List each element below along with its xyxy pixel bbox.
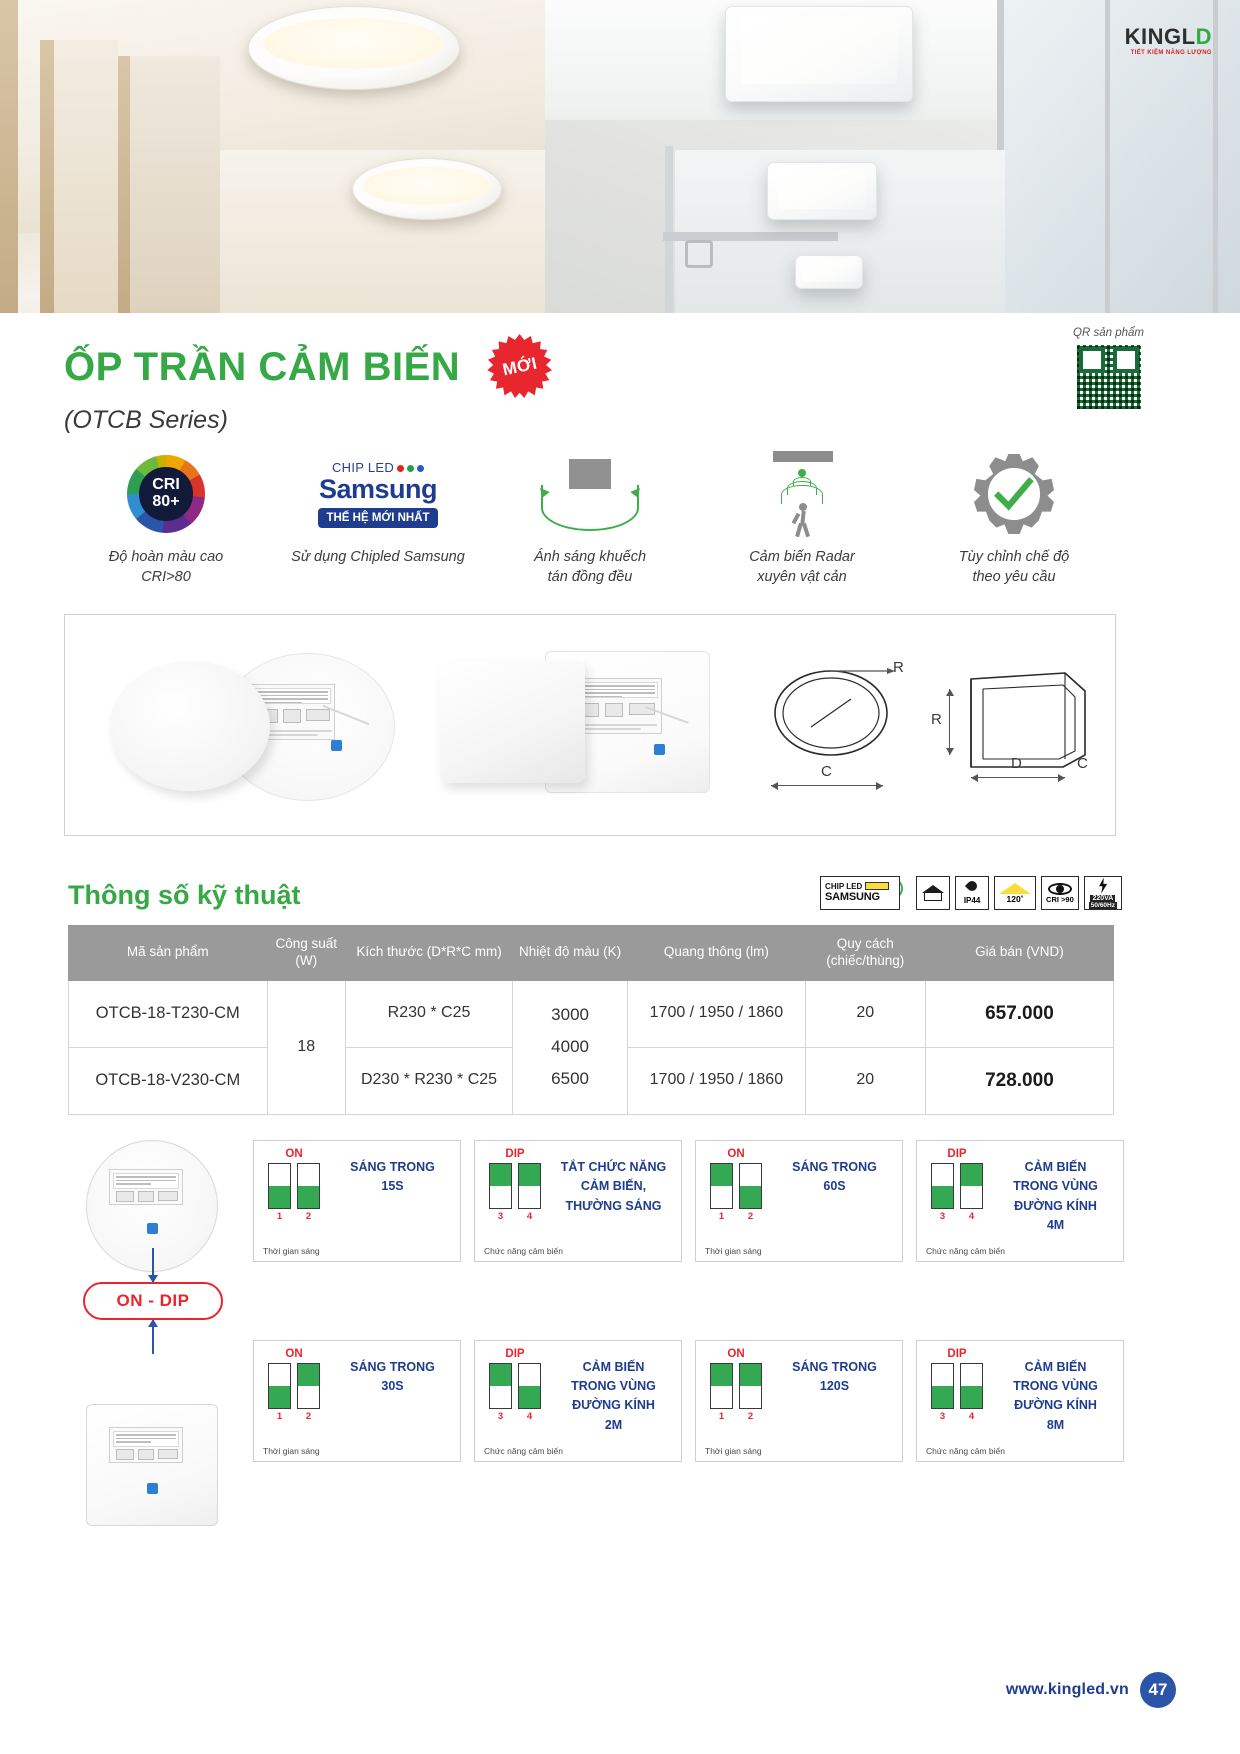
dimension-drawing-square: R D C [935,663,1115,803]
dip-card: DIP34TẮT CHỨC NĂNG CẢM BIẾN, THƯỜNG SÁNG… [474,1140,682,1262]
dip-switch[interactable]: 4 [960,1163,983,1222]
dip-switch-number: 3 [931,1211,954,1222]
dip-card-grid: ON12SÁNG TRONG 15SThời gian sángDIP34TẮT… [253,1140,1124,1526]
voltage-badge: 220VA 50/60Hz [1084,876,1122,910]
th-size: Kích thước (D*R*C mm) [345,926,512,981]
dim-label-c: C [1077,755,1088,772]
cell-price: 728.000 [925,1047,1113,1114]
dip-switch[interactable]: 2 [297,1363,320,1422]
dip-description: CẢM BIẾN TRONG VÙNG ĐƯỜNG KÍNH 2M [555,1348,672,1436]
dim-label-d: D [1011,755,1022,772]
dip-switch-number: 2 [739,1411,762,1422]
dip-function-label: Chức năng cảm biến [926,1244,1114,1256]
dip-switch[interactable]: 1 [268,1163,291,1222]
dip-card: ON12SÁNG TRONG 60SThời gian sáng [695,1140,903,1262]
dip-description: CẢM BIẾN TRONG VÙNG ĐƯỜNG KÍNH 4M [997,1148,1114,1236]
hero-photo-round-lamps [0,0,545,313]
feature-custom-mode: Tùy chỉnh chế độ theo yêu cầu [908,448,1120,587]
qr-code-icon[interactable] [1076,344,1142,410]
samsung-text: SAMSUNG [825,892,880,904]
square-product-thumb [86,1404,218,1526]
spec-section-heading: Thông số kỹ thuật [68,880,301,911]
cri-text: CRI >90 [1046,895,1074,904]
th-lumen: Quang thông (lm) [628,926,806,981]
new-badge: MỚI [487,334,553,400]
cell-lumen: 1700 / 1950 / 1860 [628,1047,806,1114]
on-dip-pill: ON - DIP [83,1282,223,1320]
qr-label: QR sản phẩm [1073,327,1144,339]
dip-function-label: Thời gian sáng [705,1244,893,1256]
dip-switch-number: 1 [710,1211,733,1222]
cell-size: D230 * R230 * C25 [345,1047,512,1114]
dip-switch-number: 2 [297,1211,320,1222]
table-row: OTCB-18-T230-CM 18 R230 * C25 3000 4000 … [69,980,1114,1047]
radar-sensor-icon [696,448,908,540]
dip-function-label: Chức năng cảm biến [484,1244,672,1256]
dim-label-r: R [893,659,904,676]
th-product-code: Mã sản phẩm [69,926,268,981]
dip-switch[interactable]: 3 [489,1363,512,1422]
dip-switch[interactable]: 3 [489,1163,512,1222]
dip-switch-number: 1 [710,1411,733,1422]
brand-logo: KINGLD TIẾT KIỆM NĂNG LƯỢNG [1125,26,1212,56]
cell-product-code: OTCB-18-T230-CM [69,980,268,1047]
voltage-text: 220VA [1090,895,1115,902]
dip-switch[interactable]: 1 [710,1163,733,1222]
gear-check-icon [908,448,1120,540]
dip-card: ON12SÁNG TRONG 120SThời gian sáng [695,1340,903,1462]
website-url[interactable]: www.kingled.vn [1006,1681,1129,1699]
arrow-up-icon [152,1320,154,1354]
dip-description: TẮT CHỨC NĂNG CẢM BIẾN, THƯỜNG SÁNG [555,1148,672,1216]
th-power: Công suất (W) [267,926,345,981]
cell-packing: 20 [805,980,925,1047]
samsung-chipled-icon: CHIP LED Samsung THẾ HỆ MỚI NHẤT [272,448,484,540]
dip-card: ON12SÁNG TRONG 15SThời gian sáng [253,1140,461,1262]
specifications-table: Mã sản phẩm Công suất (W) Kích thước (D*… [68,925,1114,1115]
new-badge-label: MỚI [480,328,558,406]
cri-wheel-icon: CRI 80+ [60,448,272,540]
dip-mode-label: ON [705,1148,767,1160]
page-footer: www.kingled.vn 47 [1006,1672,1176,1708]
dip-description: SÁNG TRONG 60S [776,1148,893,1197]
brand-tagline: TIẾT KIỆM NĂNG LƯỢNG [1125,50,1212,56]
dip-switch-number: 1 [268,1211,291,1222]
dip-description: SÁNG TRONG 120S [776,1348,893,1397]
product-dimension-box: R C R D C [64,614,1116,836]
dip-switch-number: 1 [268,1411,291,1422]
cell-price: 657.000 [925,980,1113,1047]
dip-function-label: Thời gian sáng [263,1244,451,1256]
chipled-text: CHIP LED [332,460,394,475]
dimension-drawing-round: R C [765,667,925,797]
beam-angle-text: 120˚ [1007,894,1024,904]
feature-radar: Cảm biến Radar xuyên vật cản [696,448,908,587]
cri-text-bottom: 80+ [152,494,179,511]
hero-image-row: KINGLD TIẾT KIỆM NĂNG LƯỢNG [0,0,1240,313]
dip-mode-label: ON [263,1148,325,1160]
dip-switch[interactable]: 2 [739,1163,762,1222]
dip-description: SÁNG TRONG 30S [334,1348,451,1397]
product-round-exploded [110,653,410,793]
th-color-temp: Nhiệt độ màu (K) [513,926,628,981]
frequency-text: 50/60Hz [1089,902,1117,909]
dip-switch-number: 2 [739,1211,762,1222]
on-dip-label: ON - DIP [117,1291,190,1311]
dip-switch-number: 3 [931,1411,954,1422]
dip-card: DIP34CẢM BIẾN TRONG VÙNG ĐƯỜNG KÍNH 4MCh… [916,1140,1124,1262]
brand-leaf: D [1196,24,1212,49]
dip-switch-number: 4 [518,1211,541,1222]
feature-row: CRI 80+ Độ hoàn màu cao CRI>80 CHIP LED … [60,448,1120,587]
chip-led-samsung-badge: CHIP LED SAMSUNG [820,876,900,910]
dim-label-c: C [821,763,832,780]
dip-switch-section: ON - DIP ON12SÁNG TRONG 15SThời gian sán… [64,1140,1124,1526]
dip-switch[interactable]: 4 [518,1163,541,1222]
dip-mode-label: DIP [484,1148,546,1160]
th-packing: Quy cách (chiếc/thùng) [805,926,925,981]
table-header-row: Mã sản phẩm Công suất (W) Kích thước (D*… [69,926,1114,981]
dip-function-label: Thời gian sáng [263,1444,451,1456]
chip-led-text: CHIP LED [825,882,862,891]
feature-label: Tùy chỉnh chế độ theo yêu cầu [908,548,1120,587]
dip-mode-label: DIP [926,1348,988,1360]
spec-badge-row: CHIP LED SAMSUNG IP44 120˚ CRI >90 220VA… [820,876,1122,910]
lightning-bolt-icon [1097,878,1109,894]
cell-color-temp: 3000 4000 6500 [513,980,628,1114]
indoor-house-badge [916,876,950,910]
cell-packing: 20 [805,1047,925,1114]
dip-switch[interactable]: 4 [960,1363,983,1422]
dip-function-label: Chức năng cảm biến [926,1444,1114,1456]
dip-mode-label: DIP [926,1148,988,1160]
samsung-wordmark: Samsung [318,474,437,505]
qr-block: QR sản phẩm [1073,327,1144,410]
cell-power: 18 [267,980,345,1114]
dip-card: DIP34CẢM BIẾN TRONG VÙNG ĐƯỜNG KÍNH 2MCh… [474,1340,682,1462]
dip-switch[interactable]: 1 [710,1363,733,1422]
beam-angle-badge: 120˚ [994,876,1036,910]
feature-label: Ánh sáng khuếch tán đồng đều [484,548,696,587]
dip-mode-label: ON [263,1348,325,1360]
cell-size: R230 * C25 [345,980,512,1047]
dip-switch-number: 4 [518,1411,541,1422]
brand-name: KINGL [1125,24,1196,49]
hero-photo-square-lamps: KINGLD TIẾT KIỆM NĂNG LƯỢNG [545,0,1240,313]
dip-product-illustration: ON - DIP [64,1140,239,1526]
dip-card: ON12SÁNG TRONG 30SThời gian sáng [253,1340,461,1462]
feature-samsung: CHIP LED Samsung THẾ HỆ MỚI NHẤT Sử dụng… [272,448,484,587]
feature-diffusion: Ánh sáng khuếch tán đồng đều [484,448,696,587]
feature-label: Độ hoàn màu cao CRI>80 [60,548,272,587]
ip44-text: IP44 [964,896,980,905]
dip-switch[interactable]: 1 [268,1363,291,1422]
arrow-down-icon [152,1248,154,1282]
feature-label: Cảm biến Radar xuyên vật cản [696,548,908,587]
dip-function-label: Thời gian sáng [705,1444,893,1456]
ip44-badge: IP44 [955,876,989,910]
dip-mode-label: ON [705,1348,767,1360]
cri-text-top: CRI [152,477,180,494]
dip-switch[interactable]: 3 [931,1363,954,1422]
dip-switch[interactable]: 2 [739,1363,762,1422]
samsung-generation-tag: THẾ HỆ MỚI NHẤT [318,508,437,528]
feature-cri: CRI 80+ Độ hoàn màu cao CRI>80 [60,448,272,587]
dip-function-label: Chức năng cảm biến [484,1444,672,1456]
light-diffusion-icon [484,448,696,540]
th-price: Giá bán (VND) [925,926,1113,981]
dip-switch[interactable]: 3 [931,1163,954,1222]
dip-switch[interactable]: 2 [297,1163,320,1222]
feature-label: Sử dụng Chipled Samsung [272,548,484,568]
dip-mode-label: DIP [484,1348,546,1360]
dip-switch-number: 4 [960,1411,983,1422]
dip-switch-number: 3 [489,1211,512,1222]
product-square-exploded [440,651,740,801]
dip-switch[interactable]: 4 [518,1363,541,1422]
page-title: ỐP TRẦN CẢM BIẾN [64,345,460,390]
cell-lumen: 1700 / 1950 / 1860 [628,980,806,1047]
dip-description: SÁNG TRONG 15S [334,1148,451,1197]
cell-product-code: OTCB-18-V230-CM [69,1047,268,1114]
dip-card: DIP34CẢM BIẾN TRONG VÙNG ĐƯỜNG KÍNH 8MCh… [916,1340,1124,1462]
dip-switch-number: 3 [489,1411,512,1422]
page-number: 47 [1140,1672,1176,1708]
cri-badge: CRI >90 [1041,876,1079,910]
dip-description: CẢM BIẾN TRONG VÙNG ĐƯỜNG KÍNH 8M [997,1348,1114,1436]
series-subtitle: (OTCB Series) [64,406,553,435]
page-title-block: ỐP TRẦN CẢM BIẾN MỚI (OTCB Series) [64,334,553,435]
dim-label-r: R [931,711,942,728]
dip-switch-number: 4 [960,1211,983,1222]
dip-switch-number: 2 [297,1411,320,1422]
